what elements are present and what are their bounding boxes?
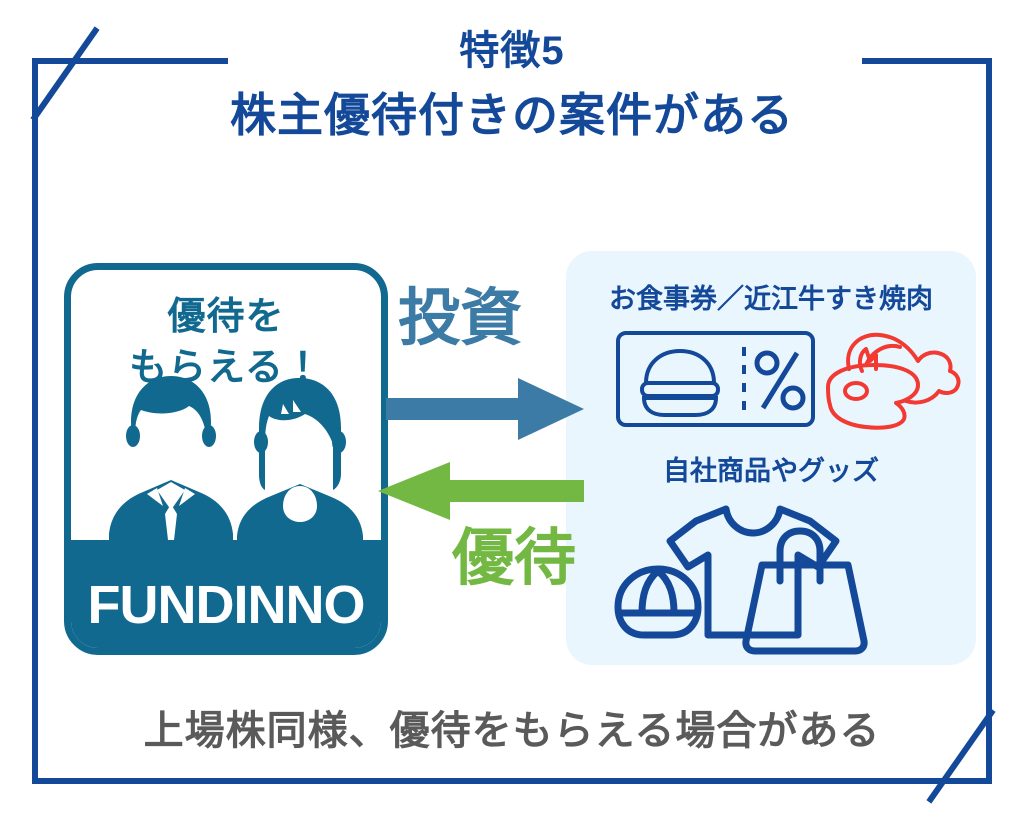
brand-name: FUNDINNO: [71, 578, 381, 632]
investment-arrow-icon: [386, 378, 584, 440]
frame-left-segment: [32, 58, 38, 784]
reward-food-label: お食事券／近江牛すき焼肉: [566, 277, 976, 316]
food-reward-icons: [566, 325, 976, 435]
page-title: 株主優待付きの案件がある: [0, 88, 1024, 143]
reward-arrow-icon: [378, 462, 584, 520]
frame-right-segment: [986, 58, 992, 784]
reward-goods-label: 自社商品やグッズ: [566, 449, 976, 488]
two-people-icon: [71, 364, 381, 544]
meat-and-chicken-icon: [828, 335, 959, 428]
investor-card: 優待を もらえる！: [64, 263, 388, 655]
bottom-caption: 上場株同様、優待をもらえる場合がある: [0, 698, 1024, 756]
reward-panel: お食事券／近江牛すき焼肉: [566, 251, 976, 665]
goods-reward-icons: [566, 489, 976, 659]
infographic-canvas: 特徴5 株主優待付きの案件がある 優待を もらえる！: [0, 0, 1024, 819]
reward-arrow-label: 優待: [452, 528, 576, 590]
title-block: 特徴5 株主優待付きの案件がある: [0, 28, 1024, 143]
cap-icon: [618, 569, 698, 635]
investor-card-caption-line1: 優待を: [71, 292, 381, 343]
frame-bottom-segment: [32, 778, 992, 784]
investment-arrow-label: 投資: [398, 288, 522, 350]
page-title-kicker: 特徴5: [0, 28, 1024, 74]
